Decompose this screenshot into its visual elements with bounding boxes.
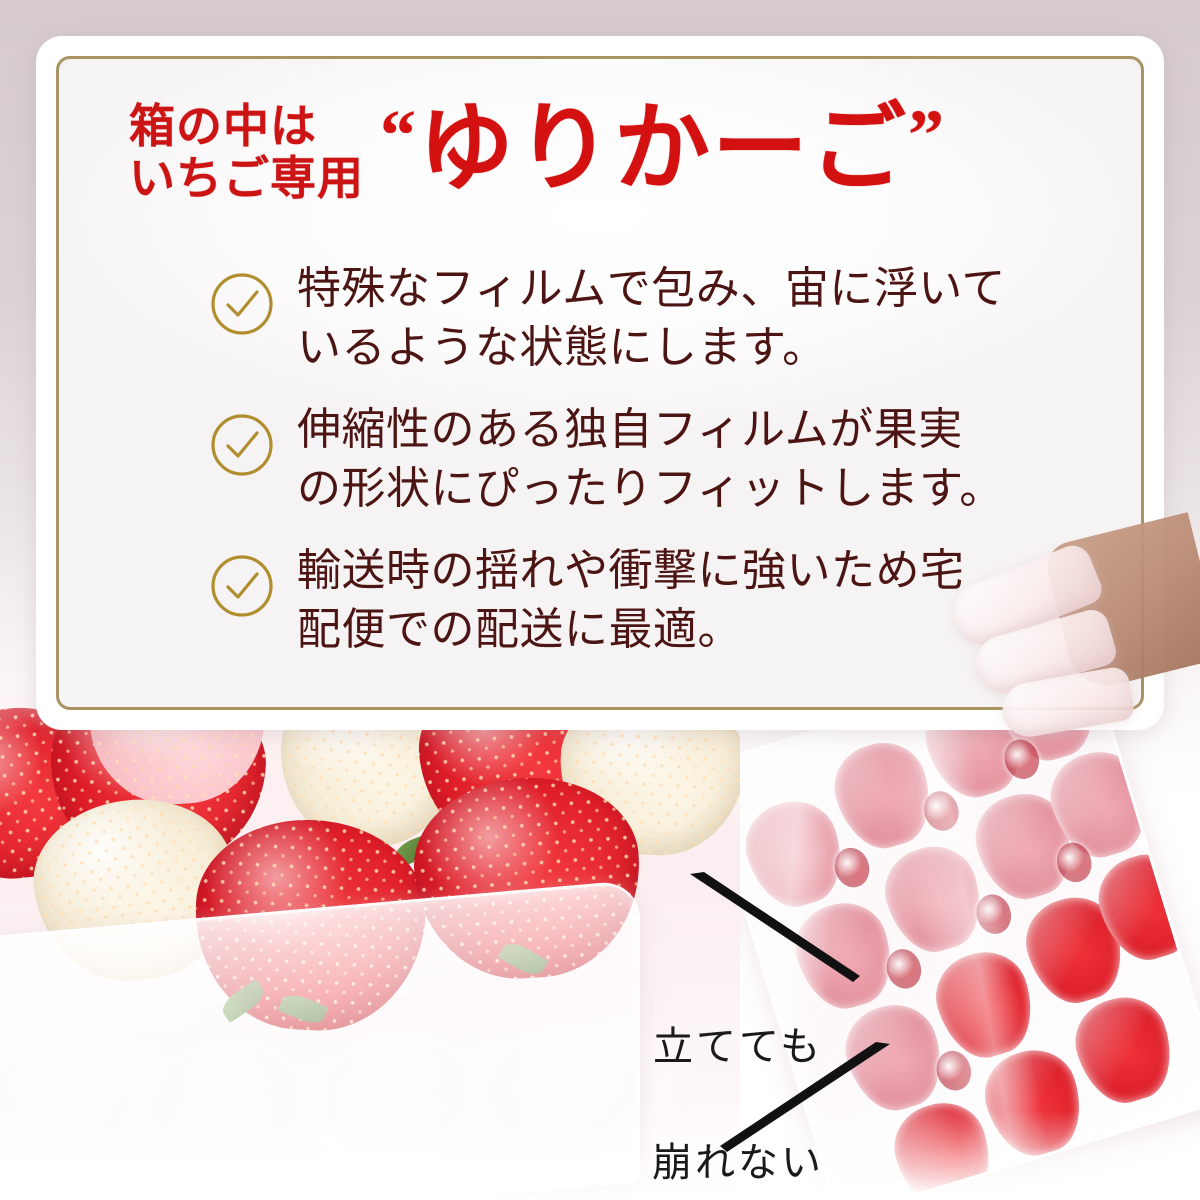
circle-check-icon — [209, 553, 275, 619]
quote-close: ” — [908, 95, 946, 175]
standing-caption-line-2: 崩れない — [628, 1134, 848, 1192]
info-card-inner-border: 箱の中は いちご専用 “ゆりかーご” 特殊なフィルムで包み、宙に浮 — [56, 56, 1144, 710]
list-item: 伸縮性のある独自フィルムが果実 の形状にぴったりフィットします。 — [209, 400, 1093, 519]
list-item-label: 特殊なフィルムで包み、宙に浮いて いるような状態にします。 — [297, 259, 1006, 378]
headline-small-line-2: いちご専用 — [129, 153, 364, 205]
info-card: 箱の中は いちご専用 “ゆりかーご” 特殊なフィルムで包み、宙に浮 — [36, 36, 1164, 730]
standing-caption-line-1: 立てても — [628, 1018, 848, 1076]
feature-list: 特殊なフィルムで包み、宙に浮いて いるような状態にします。 伸縮性のある独自フィ… — [209, 259, 1093, 681]
list-item-label: 輸送時の揺れや衝撃に強いため宅 配便での配送に最適。 — [297, 541, 965, 660]
pack-cell — [975, 1040, 1093, 1166]
headline-small-lines: 箱の中は いちご専用 — [129, 101, 364, 204]
promo-canvas: 箱の中は いちご専用 “ゆりかーご” 特殊なフィルムで包み、宙に浮 — [0, 0, 1200, 1200]
standing-caption: 立てても 崩れない — [628, 960, 848, 1200]
pack-cell — [735, 791, 853, 917]
circle-check-icon — [209, 412, 275, 478]
pack-cell — [926, 942, 1044, 1068]
clear-plastic-tray — [0, 879, 640, 1200]
tray-cell — [0, 1037, 130, 1170]
circle-check-icon — [209, 271, 275, 337]
tray-cell — [320, 1027, 470, 1160]
list-item-label: 伸縮性のある独自フィルムが果実 の形状にぴったりフィットします。 — [297, 400, 1004, 519]
pack-cell — [875, 836, 993, 962]
headline-big: “ゆりかーご” — [380, 101, 946, 197]
headline: 箱の中は いちご専用 “ゆりかーご” — [129, 101, 946, 204]
headline-big-text: ゆりかーご — [418, 95, 908, 202]
tray-cell — [150, 1034, 300, 1167]
pack-cell — [824, 732, 942, 858]
quote-open: “ — [380, 95, 418, 175]
list-item: 特殊なフィルムで包み、宙に浮いて いるような状態にします。 — [209, 259, 1093, 378]
headline-small-line-1: 箱の中は — [129, 101, 364, 153]
pack-cell — [1065, 987, 1183, 1113]
pack-cell — [835, 994, 953, 1120]
tray-cell — [488, 1019, 638, 1152]
list-item: 輸送時の揺れや衝撃に強いため宅 配便での配送に最適。 — [209, 541, 1093, 660]
